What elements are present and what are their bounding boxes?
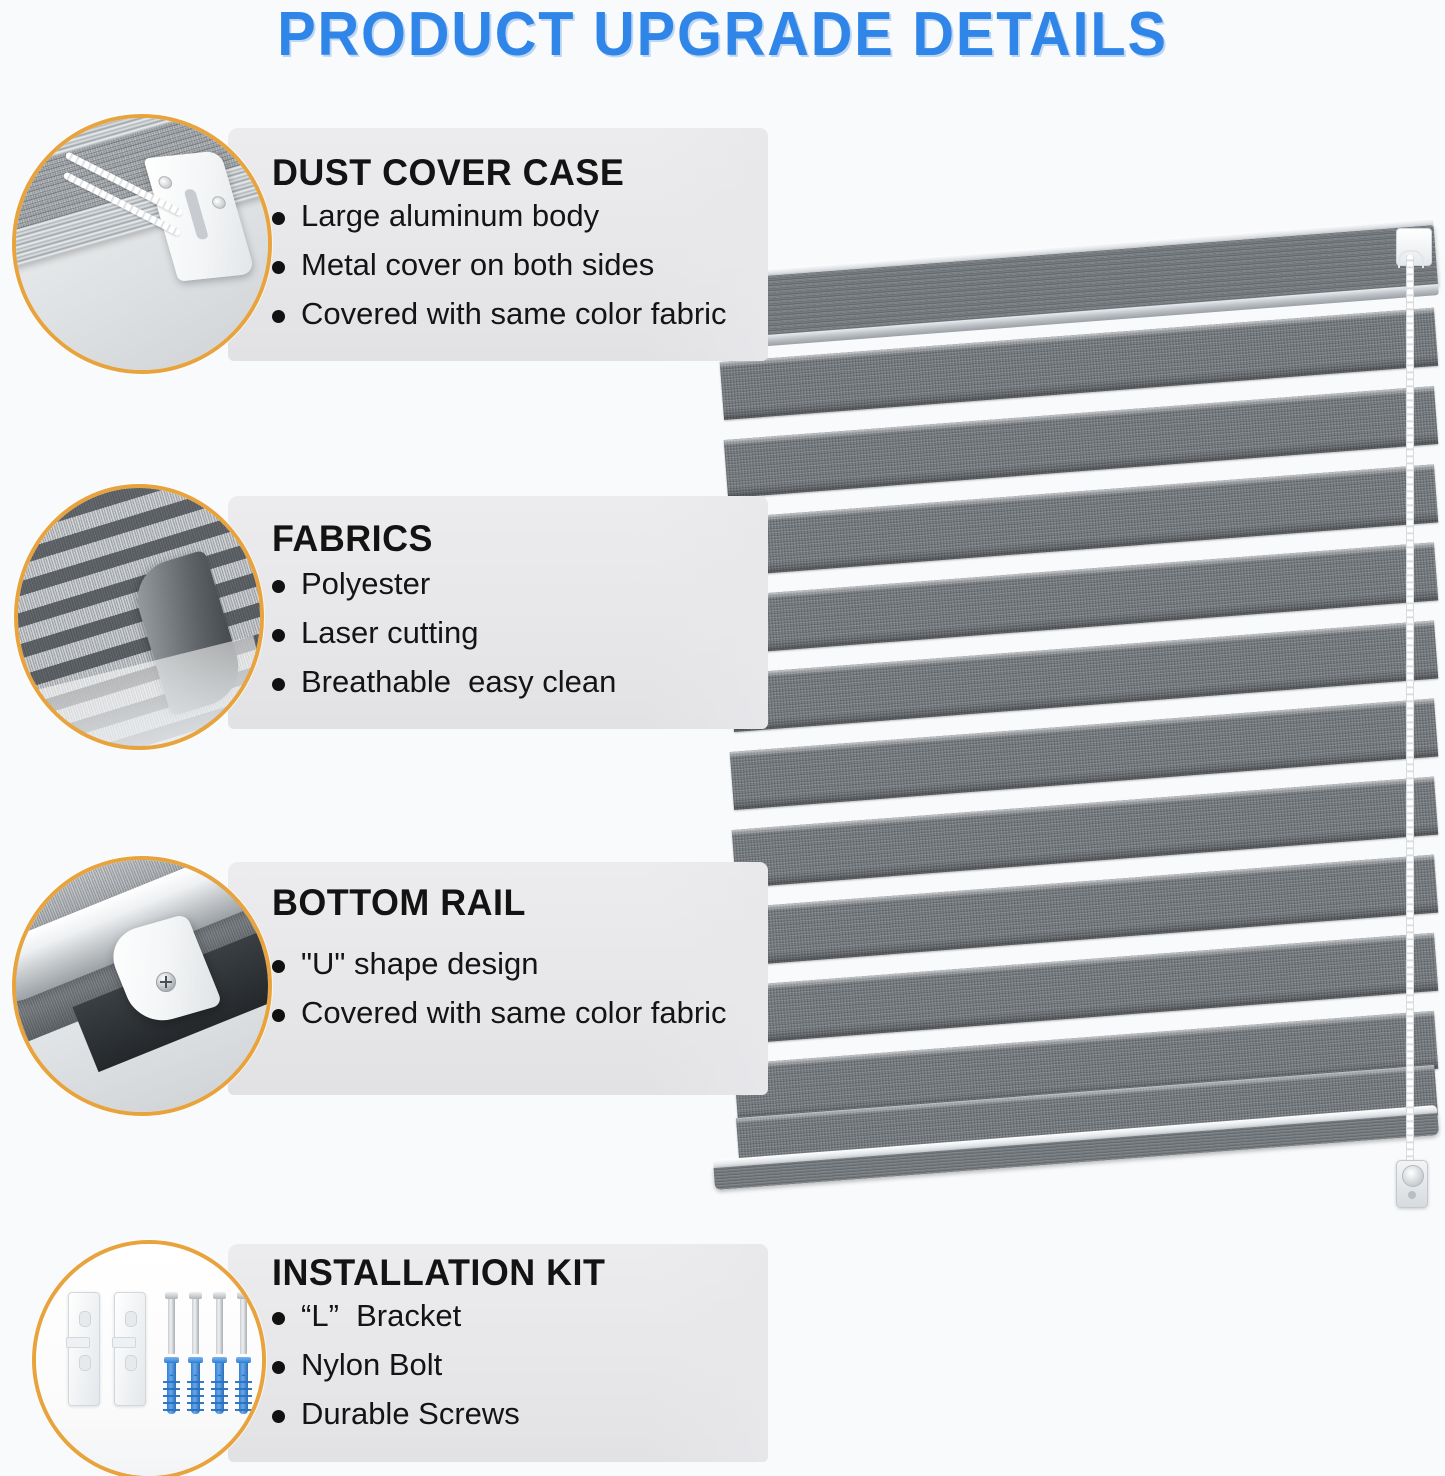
tensioner-wheel	[1402, 1165, 1424, 1187]
list-item: Nylon Bolt	[272, 1349, 520, 1380]
list-item: “L” Bracket	[272, 1300, 520, 1331]
list-item: Covered with same color fabric	[272, 997, 727, 1028]
infographic-canvas: PRODUCT UPGRADE DETAILS DUST COVER	[0, 0, 1445, 1476]
feature-title-dust-cover-case: DUST COVER CASE	[272, 152, 624, 194]
bullet-dot-icon	[272, 310, 285, 323]
feature-title-bottom-rail: BOTTOM RAIL	[272, 882, 526, 924]
list-item: Durable Screws	[272, 1398, 520, 1429]
screw-icon	[216, 1296, 223, 1354]
bullet-dot-icon	[272, 960, 285, 973]
bullet-dot-icon	[272, 629, 285, 642]
product-image-zebra-blind	[700, 222, 1445, 1232]
list-item: Large aluminum body	[272, 200, 727, 231]
tensioner-screw	[1408, 1191, 1416, 1199]
bullet-text: “L” Bracket	[301, 1300, 461, 1331]
screw-icon	[240, 1296, 247, 1354]
feature-photo-dust-cover-case	[12, 114, 272, 374]
bullet-dot-icon	[272, 1361, 285, 1374]
bullet-text: Covered with same color fabric	[301, 997, 727, 1028]
bullet-text: Large aluminum body	[301, 200, 599, 231]
feature-photo-installation-kit	[32, 1240, 266, 1476]
list-item: Laser cutting	[272, 617, 616, 648]
feature-bullets-bottom-rail: "U" shape design Covered with same color…	[272, 948, 727, 1046]
bullet-text: Durable Screws	[301, 1398, 520, 1429]
screw-icon	[156, 972, 176, 992]
screw-icon	[168, 1296, 175, 1354]
list-item: Polyester	[272, 568, 616, 599]
bullet-text: "U" shape design	[301, 948, 538, 979]
feature-bullets-dust-cover-case: Large aluminum body Metal cover on both …	[272, 200, 727, 347]
bullet-dot-icon	[272, 580, 285, 593]
nylon-bolt-anchor	[215, 1360, 224, 1414]
bullet-dot-icon	[272, 1410, 285, 1423]
bullet-dot-icon	[272, 261, 285, 274]
bullet-text: Metal cover on both sides	[301, 249, 654, 280]
bullet-dot-icon	[272, 212, 285, 225]
list-item: "U" shape design	[272, 948, 727, 979]
bullet-text: Covered with same color fabric	[301, 298, 727, 329]
chain-tensioner	[1396, 1160, 1428, 1208]
l-bracket	[114, 1292, 146, 1406]
feature-bullets-installation-kit: “L” Bracket Nylon Bolt Durable Screws	[272, 1300, 520, 1447]
screw-icon	[192, 1296, 199, 1354]
list-item: Metal cover on both sides	[272, 249, 727, 280]
bullet-text: Laser cutting	[301, 617, 479, 648]
bullet-text: Polyester	[301, 568, 430, 599]
nylon-bolt-anchor	[191, 1360, 200, 1414]
bead-chain	[1406, 255, 1414, 1170]
list-item: Breathable easy clean	[272, 666, 616, 697]
bullet-dot-icon	[272, 1312, 285, 1325]
list-item: Covered with same color fabric	[272, 298, 727, 329]
page-title: PRODUCT UPGRADE DETAILS	[51, 2, 1395, 67]
bullet-dot-icon	[272, 678, 285, 691]
feature-bullets-fabrics: Polyester Laser cutting Breathable easy …	[272, 568, 616, 715]
bullet-text: Breathable easy clean	[301, 666, 616, 697]
bullet-dot-icon	[272, 1009, 285, 1022]
nylon-bolt-anchor	[167, 1360, 176, 1414]
feature-photo-fabrics	[14, 484, 264, 750]
feature-title-installation-kit: INSTALLATION KIT	[272, 1252, 605, 1294]
feature-title-fabrics: FABRICS	[272, 518, 433, 560]
bullet-text: Nylon Bolt	[301, 1349, 442, 1380]
feature-photo-bottom-rail	[12, 856, 272, 1116]
l-bracket	[68, 1292, 100, 1406]
nylon-bolt-anchor	[239, 1360, 248, 1414]
